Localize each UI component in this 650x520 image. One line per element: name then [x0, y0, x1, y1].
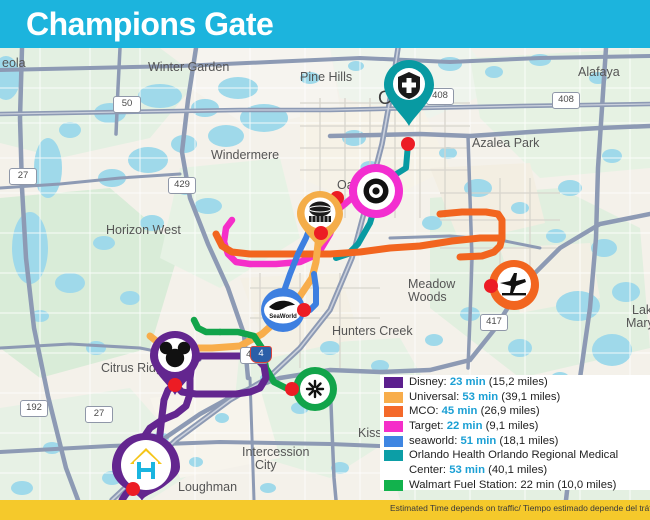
legend-panel: Disney: 23 min (15,2 miles) Universal: 5…: [380, 375, 650, 490]
legend-item-orlando-health-line2: Center: 53 min (40,1 miles): [380, 463, 650, 477]
legend-label-seaworld: seaworld: 51 min (18,1 miles): [409, 434, 558, 448]
page-title: Champions Gate: [26, 4, 273, 44]
legend-swatch-mco: [384, 406, 403, 417]
legend-item-target: Target: 22 min (9,1 miles): [380, 419, 650, 433]
route-shield-417-east: 417: [480, 314, 508, 331]
legend-swatch-disney: [384, 377, 403, 388]
route-endpoint-home: [126, 482, 140, 496]
legend-swatch-spacer: [384, 465, 403, 476]
legend-label-target: Target: 22 min (9,1 miles): [409, 419, 538, 433]
svg-text:SeaWorld: SeaWorld: [269, 314, 297, 320]
footer-bar: Estimated Time depends on traffic/ Tiemp…: [0, 500, 650, 520]
footer-disclaimer: Estimated Time depends on traffic/ Tiemp…: [390, 503, 650, 513]
legend-swatch-target: [384, 421, 403, 432]
route-endpoint-seaworld: [297, 303, 311, 317]
legend-label-universal: Universal: 53 min (39,1 miles): [409, 390, 560, 404]
route-endpoint-walmart: [285, 382, 299, 396]
universal-globe-icon: [296, 190, 344, 250]
legend-item-walmart: Walmart Fuel Station: 22 min (10,0 miles…: [380, 478, 650, 492]
marker-universal[interactable]: [296, 190, 344, 250]
header-bar: Champions Gate: [0, 0, 650, 48]
route-shield-50: 50: [113, 96, 141, 113]
home-h-icon: [110, 431, 184, 500]
legend-item-mco: MCO: 45 min (26,9 miles): [380, 404, 650, 418]
champions-gate-map-infographic: Champions Gate: [0, 0, 650, 520]
bullseye-icon: [348, 163, 404, 219]
marker-orlando-health[interactable]: [382, 58, 436, 128]
route-endpoint-disney: [168, 378, 182, 392]
route-shield-429: 429: [168, 177, 196, 194]
legend-item-seaworld: seaworld: 51 min (18,1 miles): [380, 434, 650, 448]
legend-label-orlando-health-line2: Center: 53 min (40,1 miles): [409, 463, 547, 477]
legend-label-disney: Disney: 23 min (15,2 miles): [409, 375, 548, 389]
route-shield-i4: 4: [250, 346, 272, 363]
legend-label-walmart: Walmart Fuel Station: 22 min (10,0 miles…: [409, 478, 616, 492]
legend-label-mco: MCO: 45 min (26,9 miles): [409, 404, 540, 418]
route-endpoint-universal: [314, 226, 328, 240]
route-endpoint-orlando-health: [401, 137, 415, 151]
route-endpoint-mco: [484, 279, 498, 293]
legend-swatch-universal: [384, 392, 403, 403]
legend-swatch-orlando-health: [384, 450, 403, 461]
hospital-shield-icon: [382, 58, 436, 128]
route-shield-27-south: 27: [85, 406, 113, 423]
marker-target[interactable]: [348, 163, 404, 219]
legend-item-orlando-health: Orlando Health Orlando Regional Medical: [380, 448, 650, 462]
legend-swatch-seaworld: [384, 436, 403, 447]
legend-item-universal: Universal: 53 min (39,1 miles): [380, 390, 650, 404]
legend-label-orlando-health: Orlando Health Orlando Regional Medical: [409, 448, 618, 462]
legend-item-disney: Disney: 23 min (15,2 miles): [380, 375, 650, 389]
route-shield-192: 192: [20, 400, 48, 417]
route-shield-27-north: 27: [9, 168, 37, 185]
legend-swatch-walmart: [384, 480, 403, 491]
route-shield-408-east: 408: [552, 92, 580, 109]
marker-home[interactable]: [110, 431, 184, 500]
